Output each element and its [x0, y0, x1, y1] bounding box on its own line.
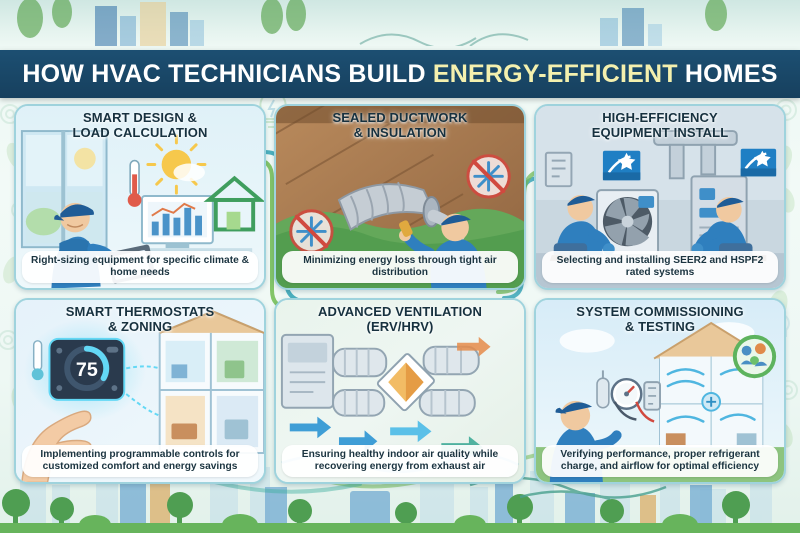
card-smart-design-load-calculation[interactable]: SMART DESIGN & LOAD CALCULATION Right-si… [14, 104, 266, 290]
card-title: SMART THERMOSTATS & ZONING [22, 305, 258, 334]
title-prefix: HOW HVAC TECHNICIANS BUILD [22, 60, 432, 88]
card-sealed-ductwork-insulation[interactable]: SEALED DUCTWORK & INSULATION Minimizing … [274, 104, 526, 290]
card-title: SMART DESIGN & LOAD CALCULATION [22, 111, 258, 140]
title-highlight: ENERGY-EFFICIENT [433, 60, 678, 88]
thermostat-reading: 75 [76, 359, 98, 381]
infographic-poster: HOW HVAC TECHNICIANS BUILD ENERGY-EFFICI… [0, 0, 800, 533]
card-title: SEALED DUCTWORK & INSULATION [282, 111, 518, 140]
card-title: HIGH-EFFICIENCY EQUIPMENT INSTALL [542, 111, 778, 140]
card-caption: Minimizing energy loss through tight air… [282, 251, 518, 283]
card-high-efficiency-equipment-install[interactable]: HIGH-EFFICIENCY EQUIPMENT INSTALL Select… [534, 104, 786, 290]
card-system-commissioning-testing[interactable]: SYSTEM COMMISSIONING & TESTING Verifying… [534, 298, 786, 484]
page-title: HOW HVAC TECHNICIANS BUILD ENERGY-EFFICI… [22, 60, 777, 89]
card-caption: Implementing programmable controls for c… [22, 445, 258, 477]
card-smart-thermostats-zoning[interactable]: 75 [14, 298, 266, 484]
card-caption: Selecting and installing SEER2 and HSPF2… [542, 251, 778, 283]
energy-star-badge-right [741, 149, 776, 177]
title-suffix: HOMES [678, 60, 778, 88]
card-caption: Right-sizing equipment for specific clim… [22, 251, 258, 283]
energy-star-badge-left [603, 151, 640, 181]
card-title: ADVANCED VENTILATION (ERV/HRV) [282, 305, 518, 334]
cards-grid: SMART DESIGN & LOAD CALCULATION Right-si… [14, 104, 786, 484]
card-caption: Verifying performance, proper refrigeran… [542, 445, 778, 477]
top-eco-strip [0, 0, 800, 46]
card-advanced-ventilation[interactable]: ADVANCED VENTILATION (ERV/HRV) Ensuring … [274, 298, 526, 484]
poster-title-banner: HOW HVAC TECHNICIANS BUILD ENERGY-EFFICI… [0, 50, 800, 98]
card-caption: Ensuring healthy indoor air quality whil… [282, 445, 518, 477]
card-title: SYSTEM COMMISSIONING & TESTING [542, 305, 778, 334]
